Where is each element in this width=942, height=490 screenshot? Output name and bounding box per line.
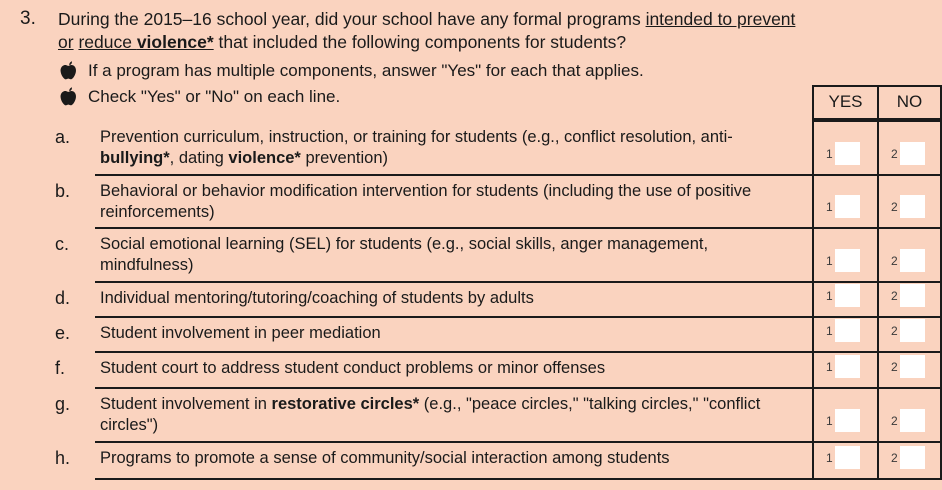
column-header-no: NO (879, 85, 940, 118)
checkbox-no[interactable] (900, 409, 925, 432)
checkbox-no[interactable] (900, 142, 925, 165)
option-number-yes: 1 (826, 200, 833, 214)
row-label: Individual mentoring/tutoring/coaching o… (100, 288, 800, 309)
option-number-no: 2 (891, 289, 898, 303)
row-label: Social emotional learning (SEL) for stud… (100, 234, 800, 276)
checkbox-no[interactable] (900, 319, 925, 342)
question-instructions: If a program has multiple components, an… (58, 58, 798, 110)
option-number-yes: 1 (826, 360, 833, 374)
answer-cell-yes: 1 (826, 409, 860, 435)
option-number-no: 2 (891, 200, 898, 214)
question-stem-tail: that included the following components f… (214, 32, 626, 52)
instruction-text: Check "Yes" or "No" on each line. (88, 87, 340, 106)
answer-cell-no: 2 (891, 355, 925, 381)
survey-question-3: 3. During the 2015–16 school year, did y… (0, 0, 942, 490)
instruction-text: If a program has multiple components, an… (88, 61, 644, 80)
row-label-segment: , dating (170, 149, 229, 167)
table-row: d.Individual mentoring/tutoring/coaching… (0, 281, 942, 316)
answer-cell-no: 2 (891, 446, 925, 472)
row-letter: h. (55, 447, 70, 469)
option-number-yes: 1 (826, 254, 833, 268)
answer-cell-yes: 1 (826, 142, 860, 168)
row-label-segment: Programs to promote a sense of community… (100, 449, 670, 467)
answer-cell-no: 2 (891, 249, 925, 275)
answer-cell-yes: 1 (826, 319, 860, 345)
instruction-line: Check "Yes" or "No" on each line. (58, 84, 798, 110)
row-label-emphasis: restorative circles* (272, 395, 420, 413)
row-label-segment: Student involvement in (100, 395, 272, 413)
answer-cell-yes: 1 (826, 355, 860, 381)
instruction-line: If a program has multiple components, an… (58, 58, 798, 84)
row-label: Behavioral or behavior modification inte… (100, 181, 800, 223)
table-row: h.Programs to promote a sense of communi… (0, 441, 942, 478)
answer-cell-no: 2 (891, 284, 925, 310)
question-stem-underline-part2: reduce violence* (78, 32, 213, 52)
table-row: e.Student involvement in peer mediation1… (0, 316, 942, 351)
answer-cell-no: 2 (891, 142, 925, 168)
answer-rows: a.Prevention curriculum, instruction, or… (0, 120, 942, 478)
checkbox-no[interactable] (900, 195, 925, 218)
question-stem: During the 2015–16 school year, did your… (58, 8, 814, 54)
option-number-yes: 1 (826, 324, 833, 338)
row-label-segment: Behavioral or behavior modification inte… (100, 182, 751, 221)
question-number: 3. (20, 7, 36, 30)
checkbox-yes[interactable] (835, 319, 860, 342)
answer-cell-yes: 1 (826, 249, 860, 275)
checkbox-no[interactable] (900, 284, 925, 307)
apple-bullet-icon (60, 87, 78, 107)
checkbox-no[interactable] (900, 249, 925, 272)
row-label-segment: Prevention curriculum, instruction, or t… (100, 128, 733, 146)
answer-cell-no: 2 (891, 409, 925, 435)
row-label: Student involvement in restorative circl… (100, 394, 800, 436)
apple-bullet-icon (60, 61, 78, 81)
question-stem-plain: During the 2015–16 school year, did your… (58, 9, 646, 29)
row-letter: g. (55, 393, 70, 415)
row-letter: e. (55, 322, 70, 344)
table-row: b.Behavioral or behavior modification in… (0, 174, 942, 227)
row-letter: b. (55, 180, 70, 202)
row-label-segment: Individual mentoring/tutoring/coaching o… (100, 289, 534, 307)
answer-cell-yes: 1 (826, 446, 860, 472)
row-label-segment: Student court to address student conduct… (100, 359, 605, 377)
option-number-yes: 1 (826, 289, 833, 303)
row-label-segment: Social emotional learning (SEL) for stud… (100, 235, 708, 274)
answer-cell-no: 2 (891, 319, 925, 345)
option-number-no: 2 (891, 147, 898, 161)
row-label: Programs to promote a sense of community… (100, 448, 800, 469)
option-number-yes: 1 (826, 414, 833, 428)
row-letter: a. (55, 126, 70, 148)
option-number-no: 2 (891, 451, 898, 465)
row-label: Student involvement in peer mediation (100, 323, 800, 344)
option-number-no: 2 (891, 324, 898, 338)
checkbox-yes[interactable] (835, 142, 860, 165)
checkbox-yes[interactable] (835, 409, 860, 432)
row-label-segment: Student involvement in peer mediation (100, 324, 381, 342)
option-number-no: 2 (891, 414, 898, 428)
option-number-no: 2 (891, 360, 898, 374)
option-number-yes: 1 (826, 147, 833, 161)
table-row: c.Social emotional learning (SEL) for st… (0, 227, 942, 281)
row-letter: d. (55, 287, 70, 309)
checkbox-no[interactable] (900, 446, 925, 469)
row-label-segment: prevention) (301, 149, 388, 167)
answer-cell-yes: 1 (826, 195, 860, 221)
row-label-emphasis: violence* (228, 149, 300, 167)
question-stem-underline-prefix: reduce (78, 32, 136, 52)
row-letter: f. (55, 357, 65, 379)
checkbox-yes[interactable] (835, 195, 860, 218)
option-number-no: 2 (891, 254, 898, 268)
answer-cell-yes: 1 (826, 284, 860, 310)
checkbox-no[interactable] (900, 355, 925, 378)
checkbox-yes[interactable] (835, 355, 860, 378)
answer-cell-no: 2 (891, 195, 925, 221)
table-row: a.Prevention curriculum, instruction, or… (0, 120, 942, 174)
checkbox-yes[interactable] (835, 284, 860, 307)
column-header-yes: YES (814, 85, 877, 118)
row-label: Prevention curriculum, instruction, or t… (100, 127, 800, 169)
row-label: Student court to address student conduct… (100, 358, 800, 379)
row-label-emphasis: bullying* (100, 149, 170, 167)
table-bottom-border (95, 478, 942, 480)
option-number-yes: 1 (826, 451, 833, 465)
row-letter: c. (55, 233, 69, 255)
table-row: g.Student involvement in restorative cir… (0, 387, 942, 441)
question-stem-violence-term: violence* (137, 32, 214, 52)
checkbox-yes[interactable] (835, 446, 860, 469)
table-row: f.Student court to address student condu… (0, 351, 942, 387)
checkbox-yes[interactable] (835, 249, 860, 272)
